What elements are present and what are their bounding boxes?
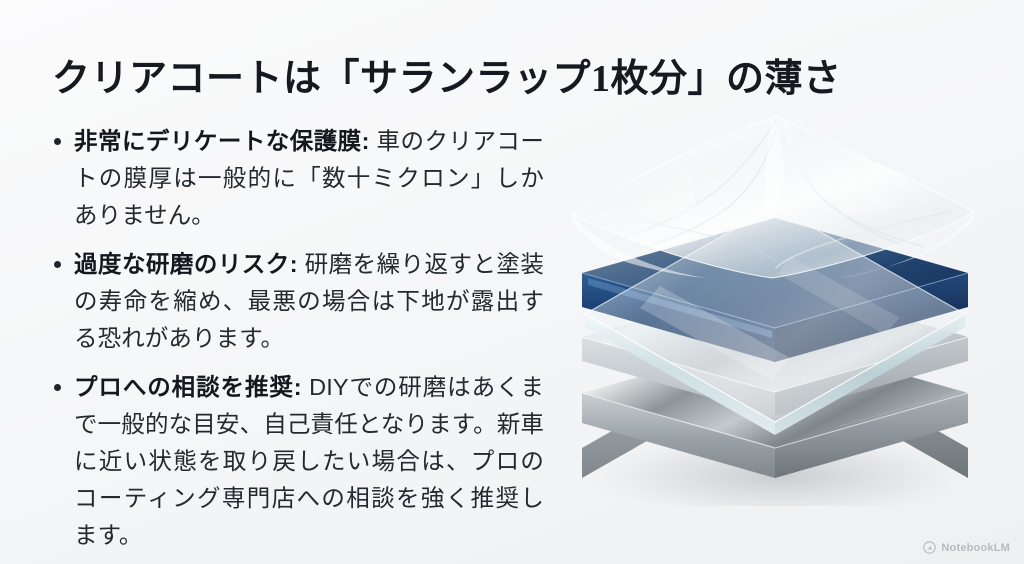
bullet-dot-icon — [54, 261, 61, 268]
list-item: 過度な研磨のリスク: 研磨を繰り返すと塗装の寿命を縮め、最悪の場合は下地が露出す… — [52, 246, 544, 357]
layer-plastic-wrap-film — [572, 116, 974, 278]
notebooklm-watermark: NotebookLM — [923, 541, 1010, 554]
bullet-dot-icon — [54, 138, 61, 145]
bullet-lead-label: 非常にデリケートな保護膜: — [74, 128, 370, 154]
bullet-lead-label: 過度な研磨のリスク: — [74, 251, 298, 277]
presentation-slide: クリアコートは「サランラップ1枚分」の薄さ 非常にデリケートな保護膜: 車のクリ… — [0, 0, 1024, 564]
list-item: プロへの相談を推奨: DIYでの研磨はあくまで一般的な目安、自己責任となります。… — [52, 369, 544, 554]
list-item: 非常にデリケートな保護膜: 車のクリアコートの膜厚は一般的に「数十ミクロン」しか… — [52, 123, 544, 234]
coating-layer-stack-illustration — [540, 86, 1010, 506]
notebooklm-spark-icon — [923, 541, 936, 554]
notebooklm-label: NotebookLM — [941, 542, 1010, 554]
bullet-dot-icon — [54, 384, 61, 391]
bullet-lead-label: プロへの相談を推奨: — [74, 374, 302, 400]
bullet-body-text: DIYでの研磨はあくまで一般的な目安、自己責任となります。新車に近い状態を取り戻… — [74, 374, 544, 548]
bullet-list: 非常にデリケートな保護膜: 車のクリアコートの膜厚は一般的に「数十ミクロン」しか… — [52, 123, 544, 554]
